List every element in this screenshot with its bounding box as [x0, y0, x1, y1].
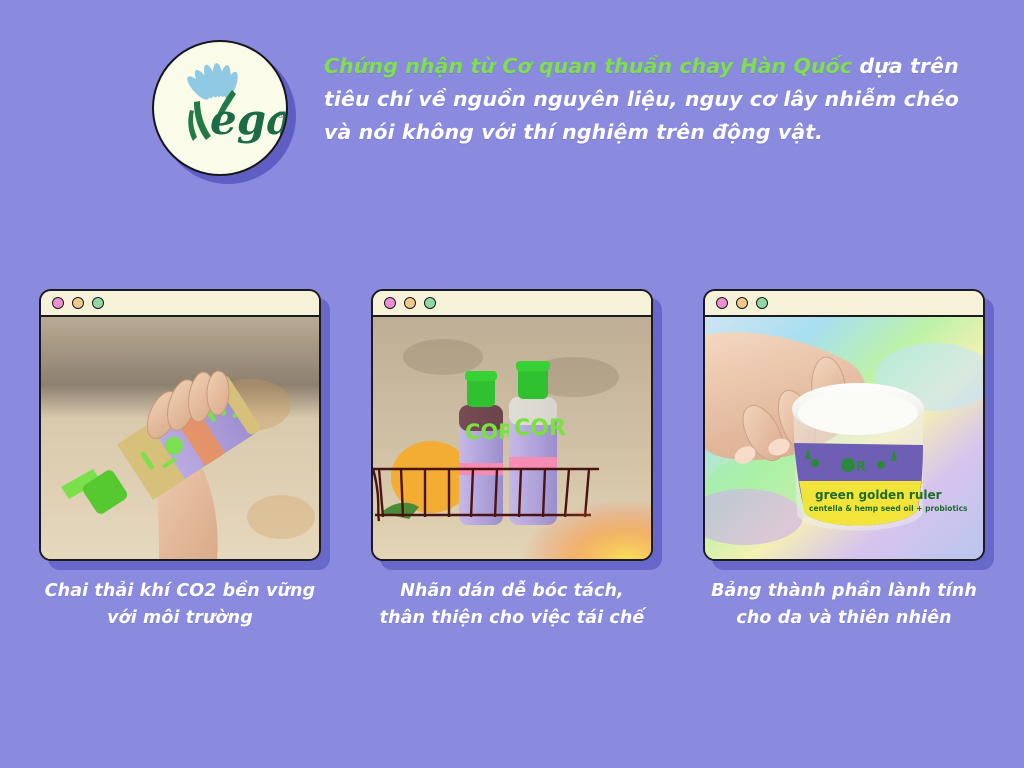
photo-basket-bottles: COR COR — [373, 317, 651, 559]
caption-3-line-2: cho da và thiên nhiên — [736, 608, 951, 628]
caption-slot-1: Chai thải khí CO2 bền vững với môi trườn… — [39, 578, 321, 631]
card-peelable-label[interactable]: COR COR — [371, 289, 653, 561]
maximize-dot-icon[interactable] — [424, 297, 436, 309]
header-banner: egan ® Chứng nhận từ Cơ quan thuần chay … — [0, 40, 1024, 190]
caption-peelable-label: Nhãn dán dễ bóc tách, thân thiện cho việ… — [371, 578, 653, 631]
window-titlebar — [373, 291, 651, 317]
header-line2: tiêu chí về nguồn nguyên liệu, nguy cơ l… — [324, 87, 959, 111]
window-titlebar — [41, 291, 319, 317]
caption-1-line-2: với môi trường — [107, 608, 253, 628]
caption-2-line-2: thân thiện cho việc tái chế — [380, 608, 645, 628]
header-line3: và nói không với thí nghiệm trên động vậ… — [324, 120, 823, 144]
card-co2-bottle[interactable] — [39, 289, 321, 561]
svg-text:R: R — [856, 460, 866, 475]
jar-label-sub: centella & hemp seed oil + probiotics — [809, 504, 968, 513]
window-frame[interactable]: R green golden ruler centella & hemp see… — [703, 289, 985, 561]
svg-text:COR: COR — [514, 416, 566, 441]
vegan-logo-circle: egan ® — [152, 40, 288, 176]
feature-cards-row: COR COR — [0, 289, 1024, 569]
captions-row: Chai thải khí CO2 bền vững với môi trườn… — [0, 578, 1024, 631]
vegan-logo: egan ® — [152, 40, 296, 184]
caption-2-line-1: Nhãn dán dễ bóc tách, — [400, 581, 624, 601]
jar-label-title: green golden ruler — [815, 488, 942, 502]
svg-text:COR: COR — [465, 420, 514, 444]
maximize-dot-icon[interactable] — [92, 297, 104, 309]
caption-clean-ingredients: Bảng thành phần lành tính cho da và thiê… — [703, 578, 985, 631]
caption-slot-3: Bảng thành phần lành tính cho da và thiê… — [703, 578, 985, 631]
maximize-dot-icon[interactable] — [756, 297, 768, 309]
caption-slot-2: Nhãn dán dễ bóc tách, thân thiện cho việ… — [371, 578, 653, 631]
photo-cream-jar: R green golden ruler centella & hemp see… — [705, 317, 983, 559]
registered-mark: ® — [276, 111, 285, 121]
close-dot-icon[interactable] — [384, 297, 396, 309]
close-dot-icon[interactable] — [52, 297, 64, 309]
header-description: Chứng nhận từ Cơ quan thuần chay Hàn Quố… — [324, 50, 959, 150]
minimize-dot-icon[interactable] — [736, 297, 748, 309]
window-frame[interactable]: COR COR — [371, 289, 653, 561]
caption-1-line-1: Chai thải khí CO2 bền vững — [45, 581, 316, 601]
header-highlight-text: Chứng nhận từ Cơ quan thuần chay Hàn Quố… — [324, 54, 852, 78]
header-line1-tail: dựa trên — [852, 54, 959, 78]
photo-co2-bottle — [41, 317, 319, 559]
minimize-dot-icon[interactable] — [72, 297, 84, 309]
card-clean-ingredients[interactable]: R green golden ruler centella & hemp see… — [703, 289, 985, 561]
window-titlebar — [705, 291, 983, 317]
window-frame[interactable] — [39, 289, 321, 561]
close-dot-icon[interactable] — [716, 297, 728, 309]
caption-co2-bottle: Chai thải khí CO2 bền vững với môi trườn… — [39, 578, 321, 631]
caption-3-line-1: Bảng thành phần lành tính — [711, 581, 977, 601]
minimize-dot-icon[interactable] — [404, 297, 416, 309]
